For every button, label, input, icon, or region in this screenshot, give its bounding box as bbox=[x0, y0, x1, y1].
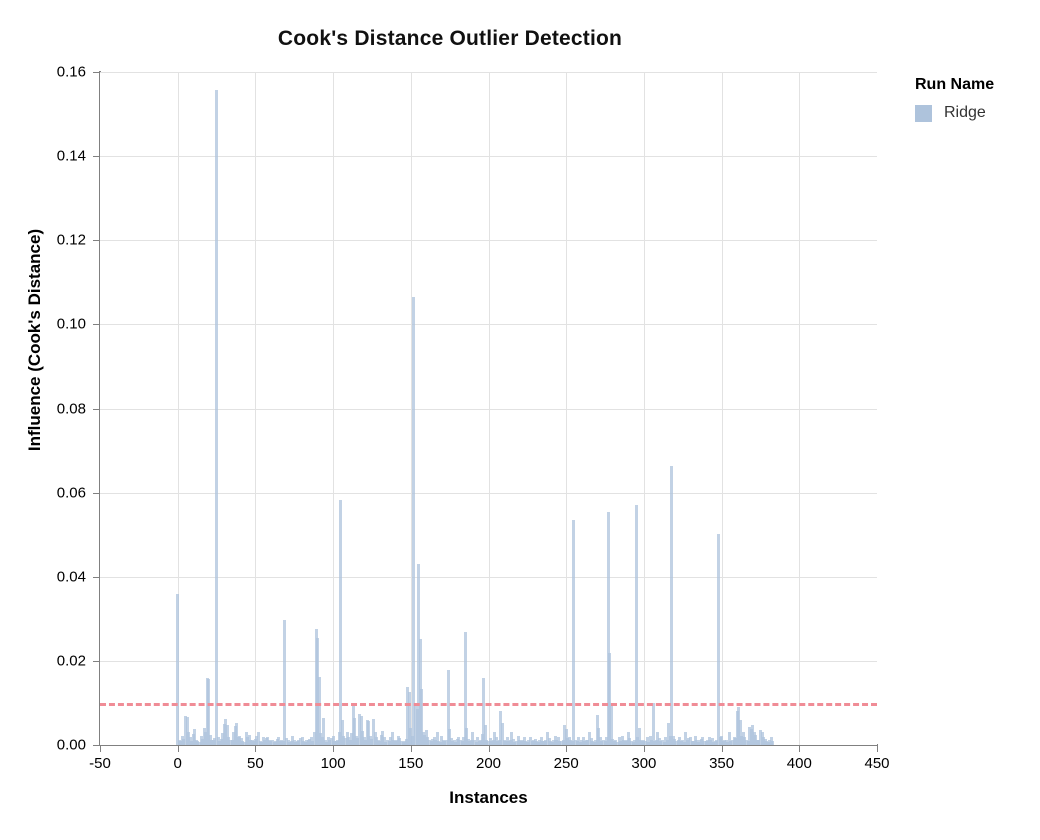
x-tick-label: 100 bbox=[298, 755, 368, 772]
bar bbox=[215, 90, 218, 745]
legend: Run Name Ridge bbox=[915, 76, 1035, 122]
cooks-distance-chart: Cook's Distance Outlier Detection Influe… bbox=[0, 0, 1040, 840]
bar bbox=[283, 620, 286, 745]
y-tick-label: 0.04 bbox=[30, 568, 86, 585]
legend-item-label: Ridge bbox=[944, 104, 986, 122]
plot-area bbox=[100, 72, 877, 745]
gridline-vertical bbox=[722, 72, 723, 745]
legend-swatch-icon bbox=[915, 105, 932, 122]
x-tick-mark bbox=[799, 746, 800, 752]
x-axis-title: Instances bbox=[100, 788, 877, 808]
gridline-vertical bbox=[566, 72, 567, 745]
bar bbox=[717, 534, 720, 745]
x-tick-label: 50 bbox=[220, 755, 290, 772]
x-tick-label: -50 bbox=[65, 755, 135, 772]
y-tick-mark bbox=[93, 409, 99, 410]
gridline-vertical bbox=[333, 72, 334, 745]
bar bbox=[771, 741, 774, 745]
x-tick-mark bbox=[566, 746, 567, 752]
y-tick-label: 0.06 bbox=[30, 484, 86, 501]
x-tick-mark bbox=[489, 746, 490, 752]
y-tick-mark bbox=[93, 156, 99, 157]
y-tick-label: 0.16 bbox=[30, 64, 86, 81]
x-tick-mark bbox=[255, 746, 256, 752]
x-tick-label: 250 bbox=[531, 755, 601, 772]
y-tick-mark bbox=[93, 661, 99, 662]
legend-item-ridge[interactable]: Ridge bbox=[915, 104, 1035, 122]
x-tick-mark bbox=[100, 746, 101, 752]
gridline-vertical bbox=[255, 72, 256, 745]
y-tick-label: 0.12 bbox=[30, 232, 86, 249]
x-tick-label: 200 bbox=[454, 755, 524, 772]
y-axis-title: Influence (Cook's Distance) bbox=[25, 160, 45, 520]
bar bbox=[635, 505, 638, 745]
legend-entries: Ridge bbox=[915, 104, 1035, 122]
x-tick-label: 300 bbox=[609, 755, 679, 772]
y-tick-mark bbox=[93, 745, 99, 746]
x-tick-label: 150 bbox=[376, 755, 446, 772]
x-tick-mark bbox=[411, 746, 412, 752]
bar bbox=[176, 594, 179, 745]
x-tick-mark bbox=[178, 746, 179, 752]
y-tick-mark bbox=[93, 577, 99, 578]
bar bbox=[572, 520, 575, 745]
y-tick-mark bbox=[93, 493, 99, 494]
x-tick-mark bbox=[877, 746, 878, 752]
x-tick-mark bbox=[644, 746, 645, 752]
legend-title: Run Name bbox=[915, 76, 1035, 94]
y-tick-mark bbox=[93, 240, 99, 241]
x-tick-label: 450 bbox=[842, 755, 912, 772]
gridline-vertical bbox=[799, 72, 800, 745]
x-tick-mark bbox=[722, 746, 723, 752]
x-tick-label: 0 bbox=[143, 755, 213, 772]
y-tick-mark bbox=[93, 72, 99, 73]
y-tick-label: 0.08 bbox=[30, 400, 86, 417]
threshold-line bbox=[100, 703, 877, 706]
x-tick-label: 400 bbox=[764, 755, 834, 772]
gridline-vertical bbox=[489, 72, 490, 745]
bar bbox=[339, 500, 342, 745]
y-tick-label: 0.02 bbox=[30, 652, 86, 669]
y-tick-label: 0.00 bbox=[30, 737, 86, 754]
bar bbox=[652, 703, 655, 745]
bar bbox=[412, 297, 415, 745]
y-tick-label: 0.14 bbox=[30, 148, 86, 165]
x-tick-label: 350 bbox=[687, 755, 757, 772]
gridline-vertical bbox=[644, 72, 645, 745]
y-tick-label: 0.10 bbox=[30, 316, 86, 333]
x-tick-mark bbox=[333, 746, 334, 752]
chart-title: Cook's Distance Outlier Detection bbox=[0, 27, 900, 51]
y-tick-mark bbox=[93, 324, 99, 325]
